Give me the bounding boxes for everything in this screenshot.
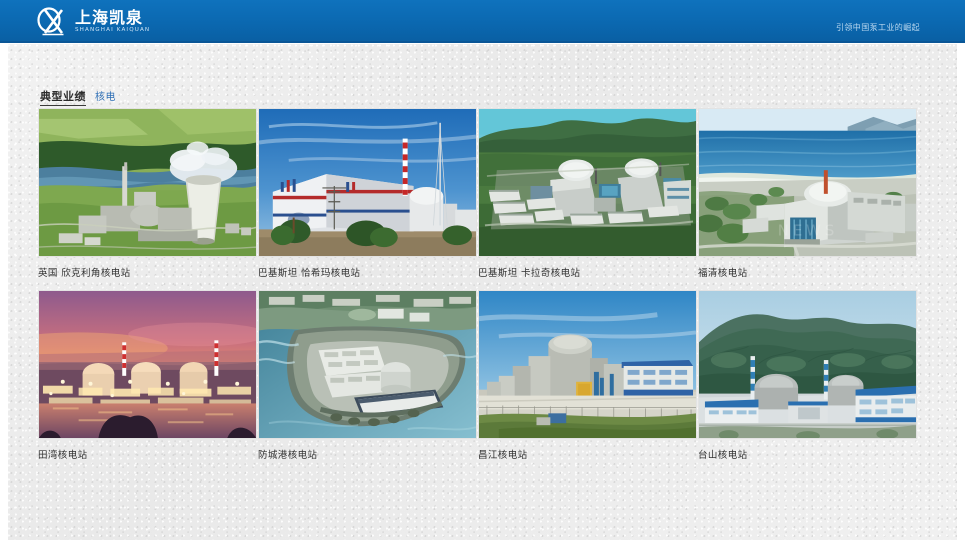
header-slogan: 引领中国泵工业的崛起: [836, 22, 920, 33]
slide-canvas: 典型业绩 核电: [8, 44, 957, 540]
gallery-item-caption: 防城港核电站: [258, 447, 478, 461]
plant-photo-hinkley[interactable]: [38, 108, 257, 257]
page-title: 典型业绩: [40, 88, 86, 106]
brand-name-en: SHANGHAI KAIQUAN: [75, 28, 150, 34]
plant-photo-changjiang[interactable]: [478, 290, 697, 439]
kaiquan-logo-icon: [36, 7, 70, 37]
header-divider: [0, 41, 965, 43]
page-header: 上海凯泉 SHANGHAI KAIQUAN 引领中国泵工业的崛起: [0, 0, 965, 42]
gallery-item-caption: 台山核电站: [698, 447, 918, 461]
plant-photo-tianwan[interactable]: [38, 290, 257, 439]
gallery-item-caption: 福清核电站: [698, 265, 918, 279]
gallery-item-caption: 昌江核电站: [478, 447, 698, 461]
plant-photo-karachi[interactable]: [478, 108, 697, 257]
brand-name-cn: 上海凯泉: [75, 10, 149, 26]
gallery-item-caption: 巴基斯坦 恰希玛核电站: [258, 265, 478, 279]
performance-gallery-grid: 英国 欣克利角核电站: [38, 108, 928, 461]
gallery-item-caption: 田湾核电站: [38, 447, 258, 461]
gallery-item[interactable]: 巴基斯坦 卡拉奇核电站: [478, 108, 698, 279]
brand-logo[interactable]: 上海凯泉 SHANGHAI KAIQUAN: [36, 6, 149, 38]
gallery-item-caption: 英国 欣克利角核电站: [38, 265, 258, 279]
gallery-item[interactable]: NEWS 福清核电站: [698, 108, 918, 279]
gallery-item[interactable]: 防城港核电站: [258, 290, 478, 461]
plant-photo-taishan[interactable]: [698, 290, 917, 439]
gallery-item[interactable]: 巴基斯坦 恰希玛核电站: [258, 108, 478, 279]
plant-photo-fuqing[interactable]: NEWS: [698, 108, 917, 257]
gallery-item[interactable]: 田湾核电站: [38, 290, 258, 461]
section-subtitle: 核电: [95, 88, 116, 103]
gallery-item[interactable]: 昌江核电站: [478, 290, 698, 461]
gallery-item-caption: 巴基斯坦 卡拉奇核电站: [478, 265, 698, 279]
section-heading: 典型业绩 核电: [40, 88, 116, 106]
plant-photo-chashma[interactable]: [258, 108, 477, 257]
gallery-item[interactable]: 台山核电站: [698, 290, 918, 461]
gallery-item[interactable]: 英国 欣克利角核电站: [38, 108, 258, 279]
svg-text:NEWS: NEWS: [778, 222, 838, 239]
plant-photo-fangchenggang[interactable]: [258, 290, 477, 439]
